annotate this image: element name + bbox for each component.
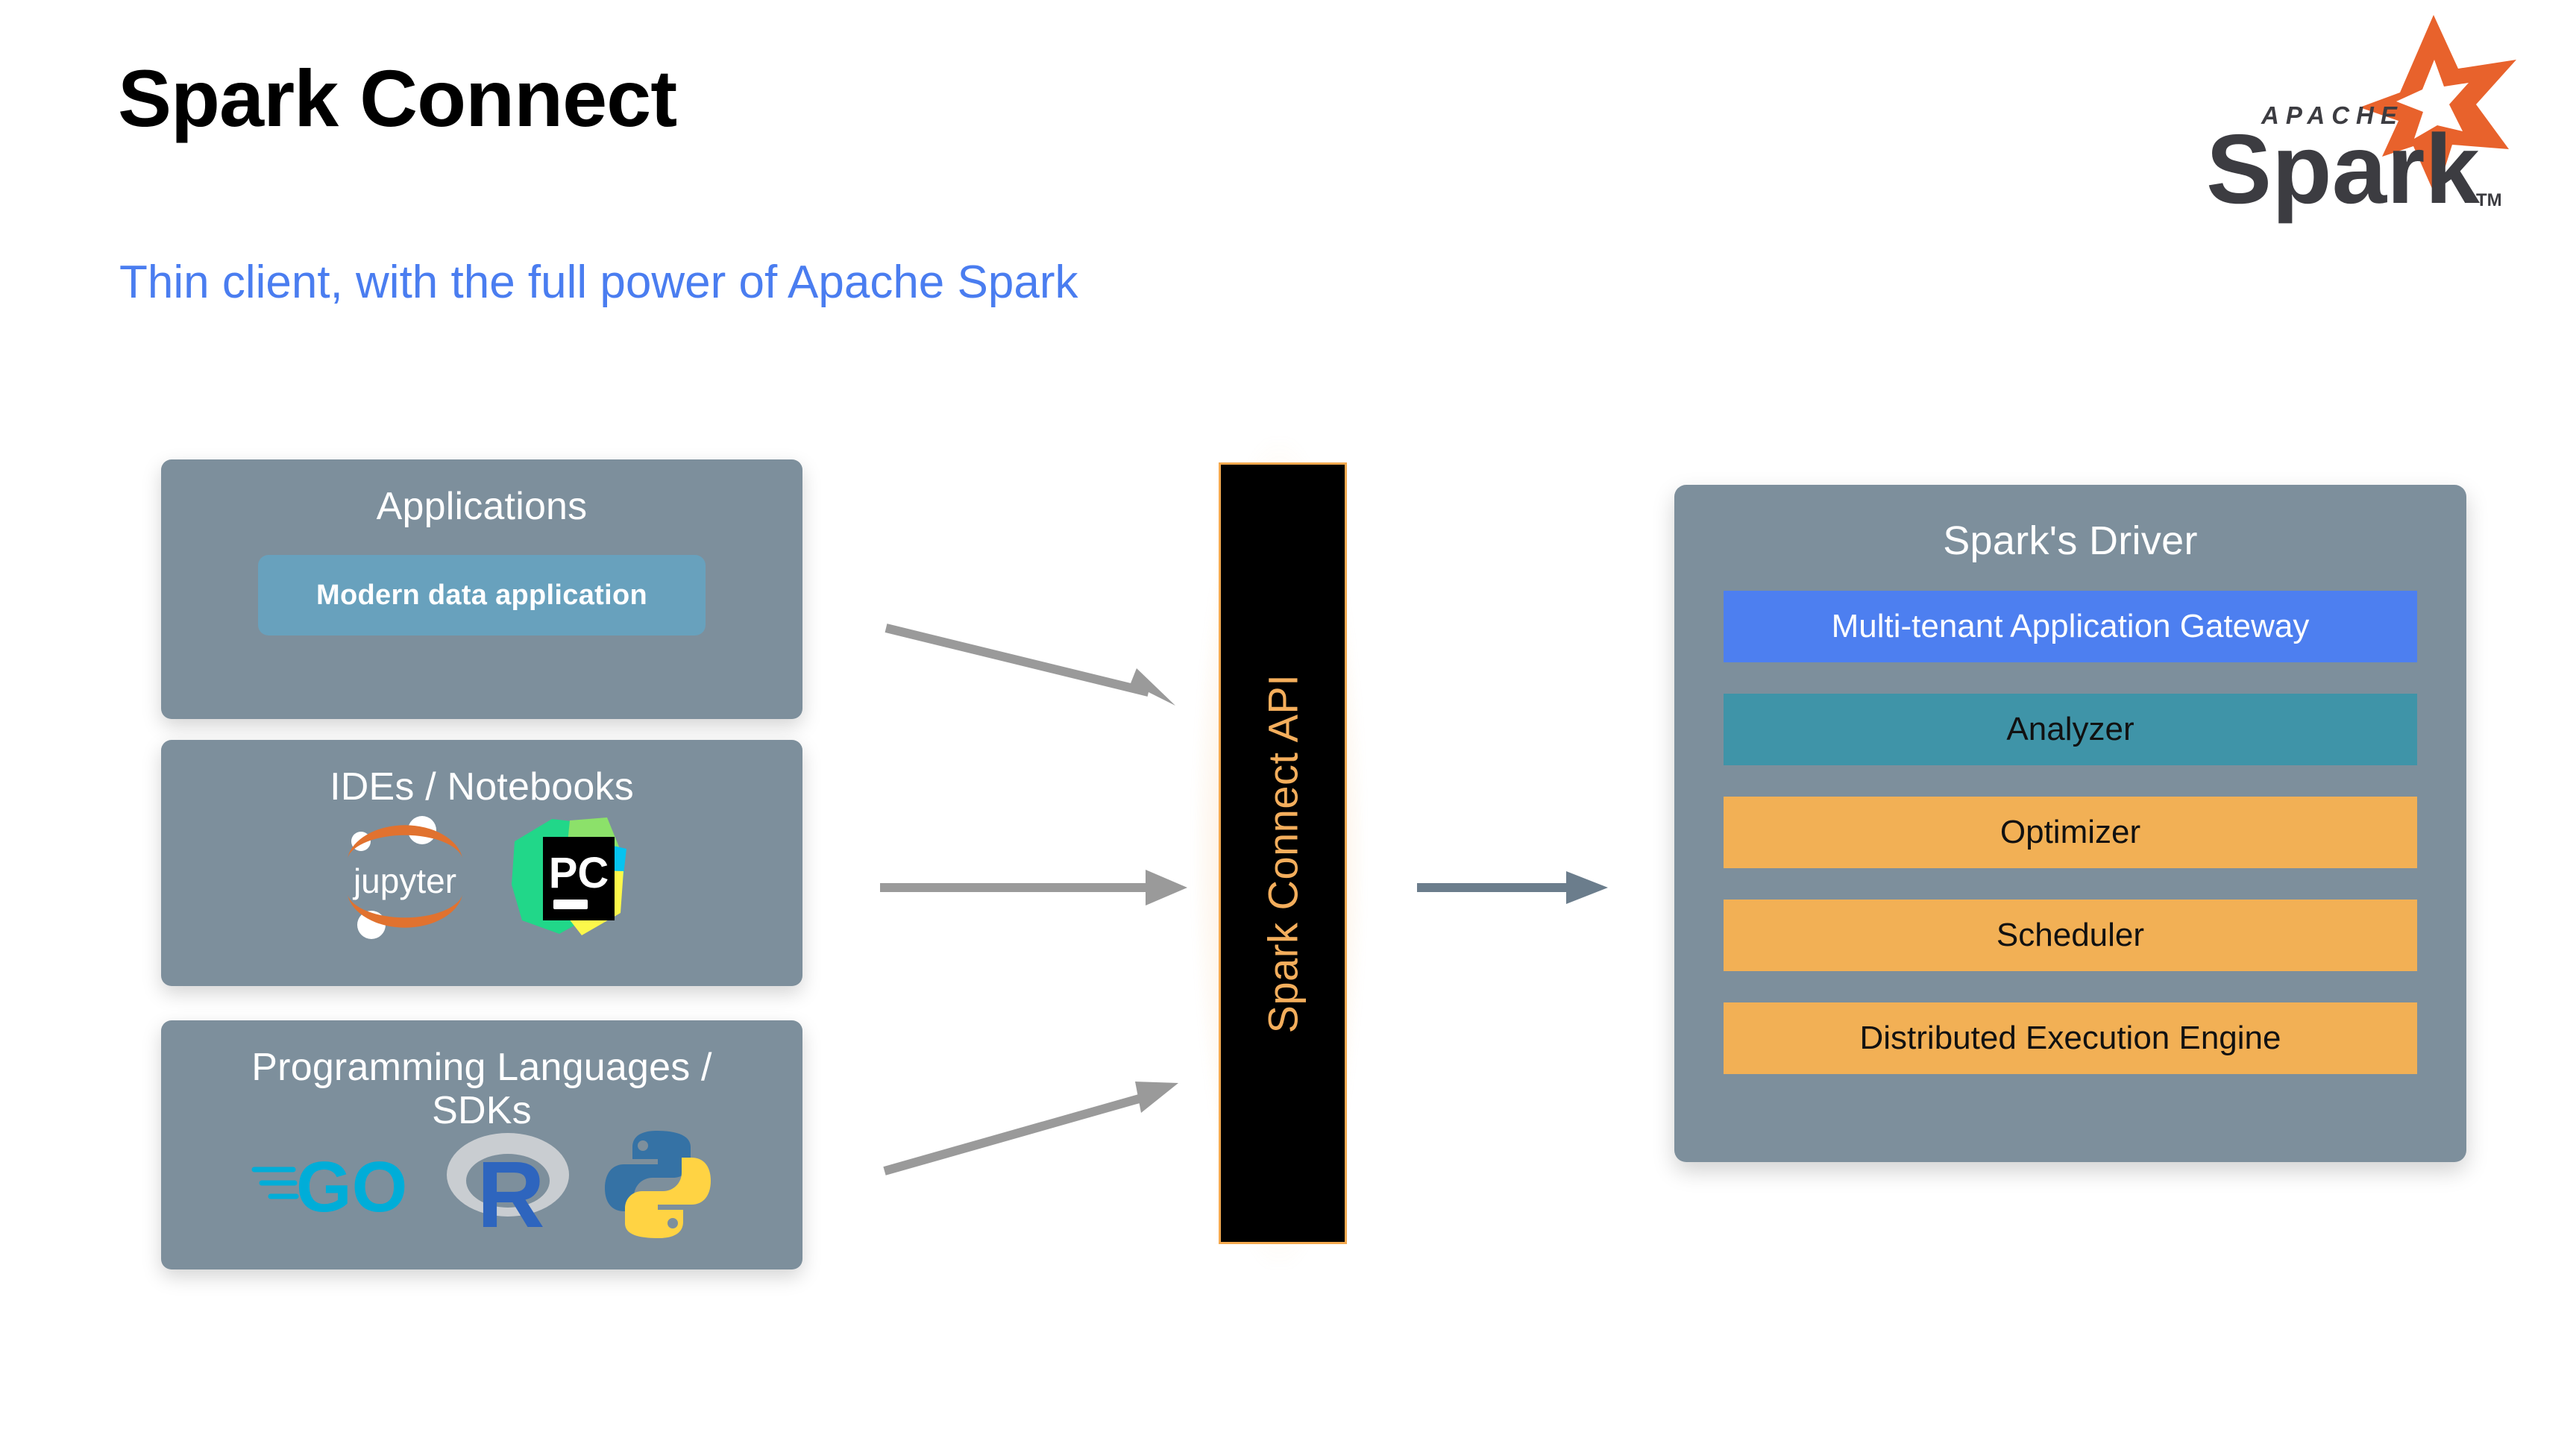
card-applications-title: Applications: [161, 459, 802, 528]
driver-row[interactable]: Scheduler: [1724, 900, 2417, 971]
r-logo: R: [433, 1129, 582, 1244]
pycharm-logo: PC: [510, 816, 629, 942]
driver-row[interactable]: Analyzer: [1724, 694, 2417, 765]
python-logo: [602, 1128, 714, 1245]
apache-spark-logo: APACHE Spark TM: [2160, 10, 2533, 227]
arrow-applications-to-api: [880, 619, 1193, 723]
card-programming-languages-sdks-title: Programming Languages / SDKs: [161, 1020, 802, 1132]
card-ides-notebooks[interactable]: IDEs / Notebooks jupyter PC: [161, 740, 802, 986]
sparks-driver-row-list: Multi-tenant Application GatewayAnalyzer…: [1674, 591, 2466, 1074]
arrow-languages-to-api: [880, 1067, 1193, 1186]
driver-row[interactable]: Optimizer: [1724, 797, 2417, 868]
arrow-ides-to-api: [880, 858, 1193, 917]
driver-row-label: Scheduler: [1997, 917, 2144, 954]
svg-text:GO: GO: [296, 1147, 407, 1227]
sparks-driver-title: Spark's Driver: [1674, 485, 2466, 564]
svg-text:R: R: [477, 1142, 545, 1240]
driver-row-label: Analyzer: [2006, 711, 2134, 748]
jupyter-logo: jupyter: [334, 813, 476, 945]
driver-row[interactable]: Multi-tenant Application Gateway: [1724, 591, 2417, 662]
logo-trademark-text: TM: [2476, 190, 2502, 210]
page-subtitle: Thin client, with the full power of Apac…: [119, 260, 1078, 306]
driver-row-label: Optimizer: [2000, 814, 2140, 851]
logo-wordmark-text: Spark: [2206, 114, 2480, 224]
driver-row-label: Distributed Execution Engine: [1860, 1020, 2281, 1057]
card-applications[interactable]: Applications Modern data application: [161, 459, 802, 719]
card-ides-notebooks-title: IDEs / Notebooks: [161, 740, 802, 809]
driver-row-label: Multi-tenant Application Gateway: [1832, 608, 2310, 645]
card-langs-title-line1: Programming Languages /: [251, 1046, 711, 1089]
arrow-api-to-driver: [1417, 858, 1611, 917]
spark-connect-api-bar[interactable]: Spark Connect API: [1219, 462, 1347, 1244]
page-title: Spark Connect: [118, 58, 676, 139]
modern-data-application-pill[interactable]: Modern data application: [258, 555, 706, 635]
language-logo-row: GO R: [161, 1128, 802, 1245]
svg-text:jupyter: jupyter: [352, 861, 456, 900]
ide-logo-row: jupyter PC: [161, 813, 802, 945]
svg-text:PC: PC: [549, 849, 609, 897]
card-langs-title-line2: SDKs: [432, 1089, 532, 1132]
go-logo: GO: [250, 1140, 414, 1233]
driver-row[interactable]: Distributed Execution Engine: [1724, 1002, 2417, 1074]
card-programming-languages-sdks[interactable]: Programming Languages / SDKs GO R: [161, 1020, 802, 1269]
sparks-driver-card[interactable]: Spark's Driver Multi-tenant Application …: [1674, 485, 2466, 1162]
spark-connect-api-label: Spark Connect API: [1259, 674, 1307, 1033]
